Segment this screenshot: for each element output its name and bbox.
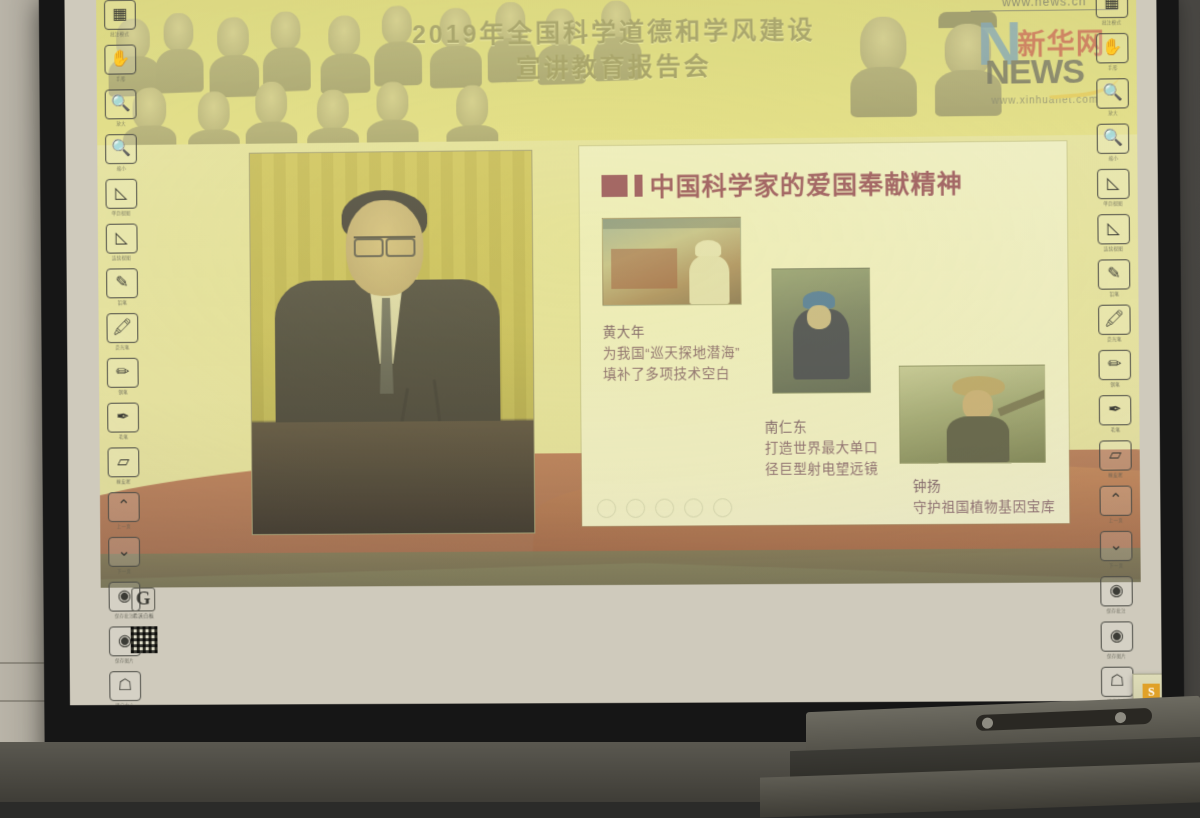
entry-name-1: 黄大年 <box>603 321 740 343</box>
toolbar-item-zoom-out[interactable]: 🔍 缩小 <box>104 134 138 172</box>
brush-icon[interactable]: ✒ <box>107 403 139 433</box>
toolbar-item-highlighter-r[interactable]: 🖍 荧光笔 <box>1097 305 1132 344</box>
toolbar-item-next-page[interactable]: ⌄ 下一页 <box>107 537 141 575</box>
toolbar-item-eraser-r[interactable]: ▱ 橡皮擦 <box>1098 440 1133 478</box>
toolbar-label: 毛笔 <box>118 434 127 440</box>
media-next-icon[interactable] <box>713 498 732 517</box>
entry-photo-2 <box>771 268 870 394</box>
media-pen-icon[interactable] <box>655 499 674 518</box>
toolbar-item-zoom-in-r[interactable]: 🔍 放大 <box>1095 78 1130 117</box>
toolbar-item-brush[interactable]: ✒ 毛笔 <box>106 403 140 441</box>
classroom-scene: 2019年全国科学道德和学风建设 宣讲教育报告会 www.news.cn N 新… <box>0 0 1200 800</box>
toolbar-item-brush-r[interactable]: ✒ 毛笔 <box>1098 395 1133 433</box>
toolbar-label: 下一页 <box>117 568 131 574</box>
hand-icon[interactable]: ✋ <box>104 44 136 74</box>
toolbar-label: 铅笔 <box>1109 291 1119 297</box>
toolbar-label: 连续视图 <box>112 255 131 261</box>
entry-caption-3: 钟扬 守护祖国植物基因宝库 <box>913 475 1056 518</box>
toolbar-item-grid[interactable]: ▦ 批注模式 <box>103 0 137 38</box>
toolbar-label: 单页视图 <box>112 210 131 216</box>
chevron-down-icon[interactable]: ⌄ <box>1100 531 1133 561</box>
entry-line1-3: 守护祖国植物基因宝库 <box>913 496 1055 518</box>
toolbar-label: 用户中心 <box>116 702 135 705</box>
qr-code-icon <box>131 626 158 653</box>
toolbar-label: 保存批注 <box>1107 608 1126 614</box>
toolbar-label: 手形 <box>1108 65 1118 71</box>
entry-photo-3 <box>899 365 1046 464</box>
toolbar-item-hand[interactable]: ✋ 手形 <box>103 44 137 82</box>
g-logo-icon: G <box>131 587 156 611</box>
toolbar-item-zoom-out-r[interactable]: 🔍 缩小 <box>1096 123 1131 162</box>
media-play-icon[interactable] <box>626 499 645 518</box>
toolbar-label: 荧光笔 <box>1107 336 1122 342</box>
save-icon[interactable]: ◉ <box>1100 576 1133 606</box>
toolbar-label: 缩小 <box>1108 155 1118 161</box>
toolbar-item-pencil[interactable]: ✎ 铅笔 <box>105 268 139 306</box>
pen-icon[interactable]: ✏ <box>1098 350 1131 380</box>
toolbar-item-pencil-r[interactable]: ✎ 铅笔 <box>1097 259 1132 298</box>
media-control-bar[interactable] <box>597 498 732 518</box>
bullet-bar-icon <box>634 175 642 197</box>
toolbar-label: 钢笔 <box>1110 381 1120 387</box>
toolbar-item-page[interactable]: ◺ 单页视图 <box>104 179 138 217</box>
annotation-toolbar-right[interactable]: ▦ 批注模式 ✋ 手形 🔍 放大 🔍 缩小 ◺ 单页视图 <box>1087 0 1142 705</box>
toolbar-item-save-r[interactable]: ◉ 保存批注 <box>1099 576 1134 614</box>
card-heading-row: 中国科学家的爱国奉献精神 <box>601 164 963 204</box>
zoom-in-icon[interactable]: 🔍 <box>105 89 137 119</box>
toolbar-item-person[interactable]: ☖ 用户中心 <box>108 671 142 705</box>
entry-name-3: 钟扬 <box>913 475 1055 497</box>
board-brand-logo: G 希沃白板 <box>126 587 160 619</box>
toolbar-item-hand-r[interactable]: ✋ 手形 <box>1095 33 1130 72</box>
toolbar-label: 保存图片 <box>116 658 135 664</box>
pen-tray-slot <box>976 708 1152 731</box>
grid-icon[interactable]: ▦ <box>104 0 136 30</box>
pencil-icon[interactable]: ✎ <box>106 268 138 298</box>
entry-line1-1: 为我国“巡天探地潜海” <box>603 342 740 364</box>
zoom-out-icon[interactable]: 🔍 <box>105 134 137 164</box>
toolbar-item-save-alt-r[interactable]: ◉ 保存图片 <box>1100 621 1135 659</box>
highlighter-icon[interactable]: 🖍 <box>1098 305 1131 335</box>
toolbar-item-page-r[interactable]: ◺ 单页视图 <box>1096 169 1131 208</box>
media-stamp-icon[interactable] <box>684 498 703 517</box>
toolbar-item-pen-r[interactable]: ✏ 钢笔 <box>1097 350 1132 388</box>
chevron-up-icon[interactable]: ⌃ <box>108 492 140 522</box>
page-icon[interactable]: ◺ <box>105 179 137 209</box>
toolbar-item-page-dup-r[interactable]: ◺ 连续视图 <box>1096 214 1131 253</box>
chevron-down-icon[interactable]: ⌄ <box>108 537 140 567</box>
toolbar-item-page-dup[interactable]: ◺ 连续视图 <box>105 224 139 262</box>
speaker-photo <box>249 150 536 535</box>
eraser-icon[interactable]: ▱ <box>108 447 140 477</box>
zoom-in-icon[interactable]: 🔍 <box>1096 78 1129 109</box>
toolbar-label: 橡皮擦 <box>1108 472 1123 478</box>
toolbar-item-next-page-r[interactable]: ⌄ 下一页 <box>1099 531 1134 569</box>
whiteboard-surface[interactable]: 2019年全国科学道德和学风建设 宣讲教育报告会 www.news.cn N 新… <box>64 0 1161 705</box>
brush-icon[interactable]: ✒ <box>1099 395 1132 425</box>
interactive-whiteboard[interactable]: 2019年全国科学道德和学风建设 宣讲教育报告会 www.news.cn N 新… <box>39 0 1185 763</box>
slide-content-card: 中国科学家的爱国奉献精神 <box>579 141 1069 526</box>
toolbar-item-eraser[interactable]: ▱ 橡皮擦 <box>107 447 141 485</box>
hand-icon[interactable]: ✋ <box>1096 33 1129 64</box>
toolbar-label: 下一页 <box>1109 562 1124 568</box>
pencil-icon[interactable]: ✎ <box>1098 259 1131 289</box>
toolbar-label: 放大 <box>116 121 125 127</box>
toolbar-label: 荧光笔 <box>115 344 129 350</box>
page-dup-icon[interactable]: ◺ <box>1097 214 1130 244</box>
toolbar-item-zoom-in[interactable]: 🔍 放大 <box>104 89 138 127</box>
toolbar-label: 上一页 <box>117 523 131 529</box>
bullet-square-icon <box>601 175 627 197</box>
entry-caption-2: 南仁东 打造世界最大单口 径巨型射电望远镜 <box>765 416 879 480</box>
toolbar-label: 批注模式 <box>111 31 130 37</box>
toolbar-item-prev-page-r[interactable]: ⌃ 上一页 <box>1099 486 1134 524</box>
media-prev-icon[interactable] <box>597 499 616 518</box>
toolbar-item-highlighter[interactable]: 🖍 荧光笔 <box>105 313 139 351</box>
toolbar-item-grid-r[interactable]: ▦ 批注模式 <box>1095 0 1130 26</box>
slide-banner: 2019年全国科学道德和学风建设 宣讲教育报告会 www.news.cn N 新… <box>96 0 1137 145</box>
entry-line1-2: 打造世界最大单口 <box>765 437 878 459</box>
toolbar-label: 铅笔 <box>117 300 126 306</box>
card-heading: 中国科学家的爱国奉献精神 <box>649 164 963 203</box>
board-brand-sub: 希沃白板 <box>127 612 161 619</box>
entry-caption-1: 黄大年 为我国“巡天探地潜海” 填补了多项技术空白 <box>603 321 741 385</box>
projected-slide: 2019年全国科学道德和学风建设 宣讲教育报告会 www.news.cn N 新… <box>96 0 1141 588</box>
toolbar-label: 连续视图 <box>1104 246 1123 253</box>
toolbar-label: 橡皮擦 <box>116 479 130 485</box>
eraser-icon[interactable]: ▱ <box>1099 440 1132 470</box>
floor <box>0 742 820 802</box>
entry-photo-1 <box>602 217 742 306</box>
slide-body: 中国科学家的爱国奉献精神 <box>97 134 1140 587</box>
toolbar-label: 保存图片 <box>1107 653 1126 659</box>
pen-icon[interactable]: ✏ <box>107 358 139 388</box>
page-icon[interactable]: ◺ <box>1097 169 1130 199</box>
save-alt-icon[interactable]: ◉ <box>1101 621 1134 651</box>
toolbar-label: 钢笔 <box>118 389 127 395</box>
toolbar-label: 手形 <box>116 76 125 82</box>
entry-line2-1: 填补了多项技术空白 <box>603 363 740 385</box>
zoom-out-icon[interactable]: 🔍 <box>1097 123 1130 154</box>
person-icon[interactable]: ☖ <box>109 671 141 701</box>
toolbar-label: 批注模式 <box>1102 19 1121 26</box>
toolbar-label: 单页视图 <box>1104 200 1123 207</box>
toolbar-label: 缩小 <box>116 165 125 171</box>
toolbar-label: 放大 <box>1108 110 1118 116</box>
page-dup-icon[interactable]: ◺ <box>106 224 138 254</box>
toolbar-item-pen[interactable]: ✏ 钢笔 <box>106 358 140 396</box>
toolbar-label: 毛笔 <box>1110 427 1120 433</box>
entry-name-2: 南仁东 <box>765 416 878 438</box>
grid-icon[interactable]: ▦ <box>1096 0 1129 18</box>
chevron-up-icon[interactable]: ⌃ <box>1100 486 1133 516</box>
person-icon[interactable]: ☖ <box>1101 667 1134 697</box>
highlighter-icon[interactable]: 🖍 <box>106 313 138 343</box>
entry-line2-2: 径巨型射电望远镜 <box>765 458 878 480</box>
toolbar-item-prev-page[interactable]: ⌃ 上一页 <box>107 492 141 530</box>
toolbar-label: 上一页 <box>1109 517 1124 523</box>
